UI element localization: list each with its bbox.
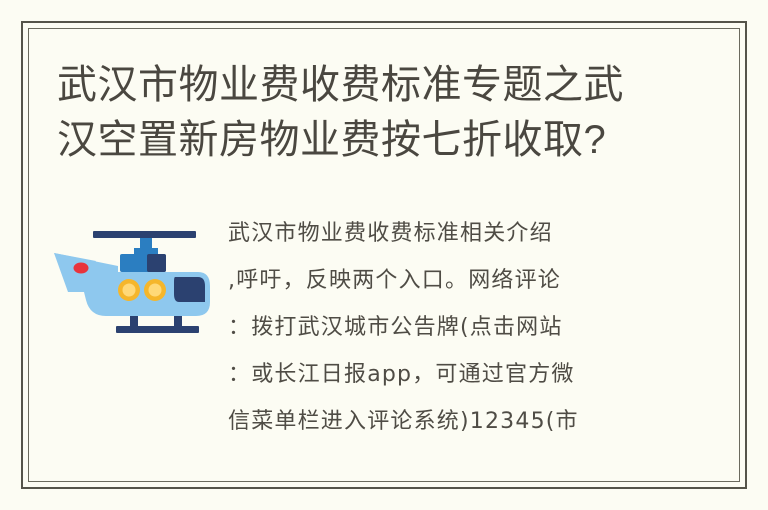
page-title-line-1: 武汉市物业费收费标准专题之武 <box>57 58 697 113</box>
content-row: 武汉市物业费收费标准相关介绍 ,呼吁，反映两个入口。网络评论 ：拨打武汉城市公告… <box>40 210 730 475</box>
helicopter-icon <box>48 220 228 345</box>
page-title-line-2: 汉空置新房物业费按七折收取? <box>57 113 697 168</box>
body-text-line-4: ：或长江日报app，可通过官方微 <box>228 351 698 398</box>
body-text-line-3: ：拨打武汉城市公告牌(点击网站 <box>228 304 698 351</box>
body-text-line-1: 武汉市物业费收费标准相关介绍 <box>228 210 698 257</box>
body-text-line-2: ,呼吁，反映两个入口。网络评论 <box>228 257 698 304</box>
page-title: 武汉市物业费收费标准专题之武 汉空置新房物业费按七折收取? <box>57 58 697 168</box>
body-text-line-5: 信菜单栏进入评论系统)12345(市 <box>228 398 698 445</box>
poster-canvas: 武汉市物业费收费标准专题之武 汉空置新房物业费按七折收取? <box>0 0 768 510</box>
body-text: 武汉市物业费收费标准相关介绍 ,呼吁，反映两个入口。网络评论 ：拨打武汉城市公告… <box>228 210 698 445</box>
